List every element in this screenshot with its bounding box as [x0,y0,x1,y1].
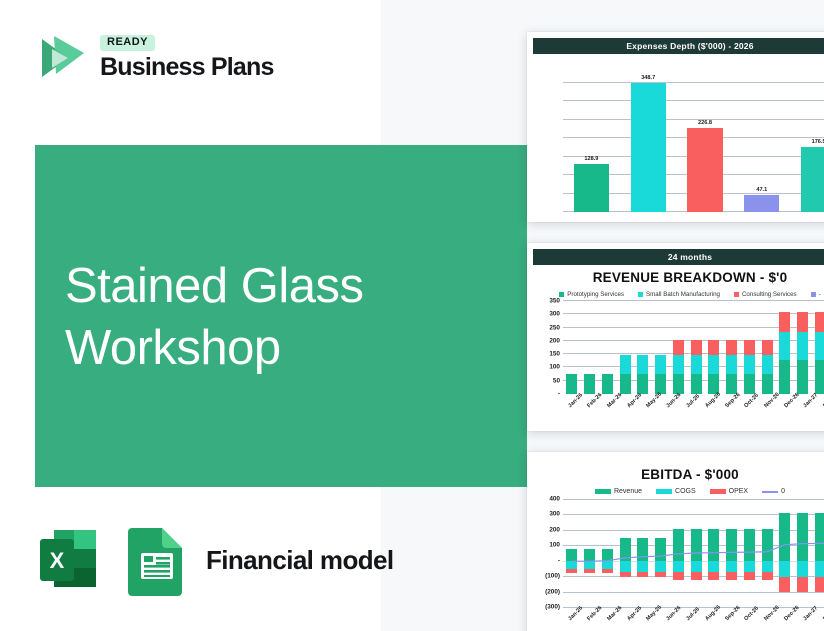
bar-slot [812,301,824,394]
revenue-bars [563,301,824,394]
revenue-chart-title: REVENUE BREAKDOWN - $'0 [533,270,824,285]
ebitda-legend: RevenueCOGSOPEX0 [533,488,824,495]
bar-segment [673,374,684,394]
y-axis-tick: 250 [549,324,560,331]
slide-canvas: READY Business Plans Stained Glass Works… [0,0,824,631]
bar-segment [602,374,613,394]
x-label-slot: Feb-27 [818,607,824,631]
bar-value-label: 47.1 [756,187,767,193]
x-axis-label: Feb-26 [587,392,604,409]
bar-slot [723,301,741,394]
expenses-banner-title: Expenses Depth ($'000) - 2026 [533,38,824,54]
legend-item: Consulting Services [734,291,797,298]
bar-segment [655,374,666,394]
x-label-slot: Feb-26 [583,394,603,420]
bar-slot: 226.8 [677,60,734,212]
y-axis-tick: (200) [545,588,560,595]
x-axis-label: Apr-26 [626,392,643,409]
x-label-slot: Sep-26 [720,607,740,631]
y-axis-tick: 300 [549,311,560,318]
hero-block: Stained Glass Workshop [35,145,527,487]
x-label-slot: Apr-26 [622,607,642,631]
bar-segment [815,312,824,332]
stacked-bar[interactable] [762,340,773,394]
bar-slot [794,301,812,394]
x-axis-label: Jan-27 [803,605,820,622]
ebitda-chart-card[interactable]: EBITDA - $'000 RevenueCOGSOPEX0 40030020… [527,452,824,631]
legend-label: 0 [781,488,785,495]
ebitda-plot-area: 400300200100-(100)(200)(300) [533,499,824,607]
x-label-slot: Dec-26 [779,607,799,631]
ebitda-chart-title: EBITDA - $'000 [533,467,824,482]
bar-value-label: 348.7 [641,75,655,81]
revenue-chart-card[interactable]: 24 months REVENUE BREAKDOWN - $'0 Protot… [527,243,824,431]
revenue-y-axis: 35030025020015010050- [533,301,563,394]
bar-slot: 348.7 [620,60,677,212]
stacked-bar[interactable] [708,340,719,394]
x-axis-label: Oct-26 [744,606,761,623]
bar-segment [655,355,666,374]
y-axis-tick: 400 [549,496,560,503]
bar-segment [620,374,631,394]
ebitda-zero-line-series [563,499,824,607]
bar-segment [584,374,595,394]
x-axis-label: Jul-26 [685,606,701,622]
bar-slot [616,301,634,394]
x-axis-label: Mar-26 [606,605,623,622]
bar-slot: 47.1 [733,60,790,212]
y-axis-tick: - [558,391,560,398]
legend-item: Prototyping Services [559,291,624,298]
stacked-bar[interactable] [637,355,648,394]
x-axis-label: Feb-26 [587,605,604,622]
x-label-slot: Aug-26 [700,394,720,420]
bar-slot [652,301,670,394]
bar-segment [797,332,808,360]
legend-swatch [811,292,816,297]
x-label-slot: Nov-26 [759,394,779,420]
bar[interactable]: 348.7 [631,83,666,212]
x-label-slot: Jun-26 [661,394,681,420]
bar-slot [741,301,759,394]
x-label-slot: Apr-26 [622,394,642,420]
x-axis-label: Jun-26 [665,605,682,622]
page-title: Stained Glass Workshop [65,255,495,379]
stacked-bar[interactable] [584,374,595,394]
x-axis-label: Oct-26 [744,393,761,410]
x-label-slot: May-26 [642,607,662,631]
revenue-legend: Prototyping ServicesSmall Batch Manufact… [533,291,824,298]
revenue-plot-area: 35030025020015010050- [533,301,824,394]
legend-item: Revenue [595,488,642,495]
y-axis-tick: 300 [549,511,560,518]
x-label-slot: Oct-26 [740,607,760,631]
ready-badge: READY [100,35,155,51]
x-axis-label: Jan-26 [567,392,584,409]
bar[interactable]: 176.5 [801,147,824,212]
bar-segment [779,312,790,332]
legend-swatch [656,489,672,494]
bar-segment [708,355,719,374]
bar-value-label: 176.5 [812,139,824,145]
bar-segment [637,355,648,374]
stacked-bar[interactable] [744,340,755,394]
stacked-bar[interactable] [673,340,684,394]
bar-segment [779,332,790,360]
legend-item: OPEX [710,488,748,495]
bar-segment [815,332,824,360]
svg-text:X: X [50,548,65,573]
x-axis-label: Jan-26 [567,605,584,622]
bar-slot [581,301,599,394]
x-label-slot: May-26 [642,394,662,420]
x-label-slot: Jan-26 [563,394,583,420]
bar-segment [691,340,702,356]
bar-slot: 128.9 [563,60,620,212]
x-label-slot: Mar-26 [602,394,622,420]
revenue-x-axis-labels: Jan-26Feb-26Mar-26Apr-26May-26Jun-26Jul-… [563,394,824,420]
legend-item: 0 [762,488,785,495]
x-label-slot: Feb-26 [583,607,603,631]
stacked-bar[interactable] [566,374,577,394]
bar-value-label: 128.9 [584,156,598,162]
play-triangle-logo [30,25,92,87]
bar-segment [726,355,737,374]
y-axis-tick: 100 [549,542,560,549]
legend-label: - [819,291,821,298]
bar-slot [758,301,776,394]
legend-label: Small Batch Manufacturing [646,291,720,298]
x-label-slot: Mar-26 [602,607,622,631]
footer-label: Financial model [206,545,394,576]
bar-segment [637,374,648,394]
expenses-plot-area: 128.9348.7226.847.1176.5 [533,60,824,212]
microsoft-excel-icon: X [36,524,108,596]
x-label-slot: Aug-26 [700,607,720,631]
bar-slot [776,301,794,394]
legend-item: COGS [656,488,696,495]
bar-segment [779,360,790,394]
x-axis-label: Apr-26 [626,605,643,622]
y-axis-tick: 350 [549,298,560,305]
bar-slot [687,301,705,394]
x-axis-label: Jun-26 [665,392,682,409]
brand-lockup: READY Business Plans [30,25,274,87]
y-axis-tick: 200 [549,526,560,533]
bar-segment [744,355,755,374]
bar[interactable]: 128.9 [574,164,609,212]
x-label-slot: Jan-27 [799,607,819,631]
bar-segment [762,355,773,374]
bar-slot [599,301,617,394]
ebitda-y-axis: 400300200100-(100)(200)(300) [533,499,563,607]
stacked-bar[interactable] [602,374,613,394]
expenses-y-axis [533,60,563,212]
bar-segment [566,374,577,394]
legend-swatch [638,292,643,297]
bar-segment [673,355,684,374]
y-axis-tick: 100 [549,364,560,371]
legend-item: - [811,291,821,298]
bar-segment [797,312,808,332]
legend-swatch [595,489,611,494]
bar-segment [744,340,755,356]
bar-value-label: 226.8 [698,120,712,126]
bar-segment [726,340,737,356]
legend-swatch [710,489,726,494]
bar-segment [708,340,719,356]
bar-segment [673,340,684,356]
stacked-bar[interactable] [620,355,631,394]
legend-label: OPEX [729,488,748,495]
expenses-chart-card[interactable]: Expenses Depth ($'000) - 2026 128.9348.7… [527,32,824,222]
x-label-slot: Jan-26 [563,607,583,631]
x-label-slot: Nov-26 [759,607,779,631]
bar-segment [620,355,631,374]
y-axis-tick: - [558,557,560,564]
x-label-slot: Dec-26 [779,394,799,420]
ebitda-x-axis-labels: Jan-26Feb-26Mar-26Apr-26May-26Jun-26Jul-… [563,607,824,631]
bar-segment [744,374,755,394]
x-label-slot: Sep-26 [720,394,740,420]
legend-label: Revenue [614,488,642,495]
x-label-slot: Feb-27 [818,394,824,420]
footer-row: X Financial model [36,524,394,596]
bar-segment [815,360,824,394]
legend-swatch [762,491,778,493]
brand-name: Business Plans [100,55,274,80]
y-axis-tick: (300) [545,604,560,611]
bar-segment [691,355,702,374]
stacked-bar[interactable] [691,340,702,394]
y-axis-tick: 150 [549,351,560,358]
brand-text: READY Business Plans [100,32,274,80]
x-axis-label: Mar-26 [606,392,623,409]
google-sheets-icon [126,524,188,596]
x-label-slot: Jun-26 [661,607,681,631]
x-axis-label: Jul-26 [685,393,701,409]
bar[interactable]: 226.8 [687,128,722,212]
bar-segment [762,340,773,356]
bar-slot: 176.5 [790,60,824,212]
x-label-slot: Jul-26 [681,394,701,420]
expenses-bars: 128.9348.7226.847.1176.5 [563,60,824,212]
legend-label: COGS [675,488,696,495]
stacked-bar[interactable] [797,312,808,394]
y-axis-tick: 200 [549,337,560,344]
bar-slot [670,301,688,394]
stacked-bar[interactable] [779,312,790,394]
y-axis-tick: (100) [545,573,560,580]
bar-slot [634,301,652,394]
revenue-banner-title: 24 months [533,249,824,265]
bar-segment [762,374,773,394]
bar-slot [705,301,723,394]
stacked-bar[interactable] [815,312,824,394]
y-axis-tick: 50 [553,377,560,384]
x-label-slot: Jan-27 [799,394,819,420]
legend-swatch [734,292,739,297]
bar-segment [797,360,808,394]
bar[interactable]: 47.1 [744,195,779,212]
bar-slot [563,301,581,394]
stacked-bar[interactable] [726,340,737,394]
x-axis-label: Jan-27 [803,392,820,409]
legend-label: Prototyping Services [567,291,624,298]
legend-swatch [559,292,564,297]
bar-segment [691,374,702,394]
bar-segment [726,374,737,394]
x-label-slot: Oct-26 [740,394,760,420]
legend-label: Consulting Services [742,291,797,298]
stacked-bar[interactable] [655,355,666,394]
x-label-slot: Jul-26 [681,607,701,631]
legend-item: Small Batch Manufacturing [638,291,720,298]
